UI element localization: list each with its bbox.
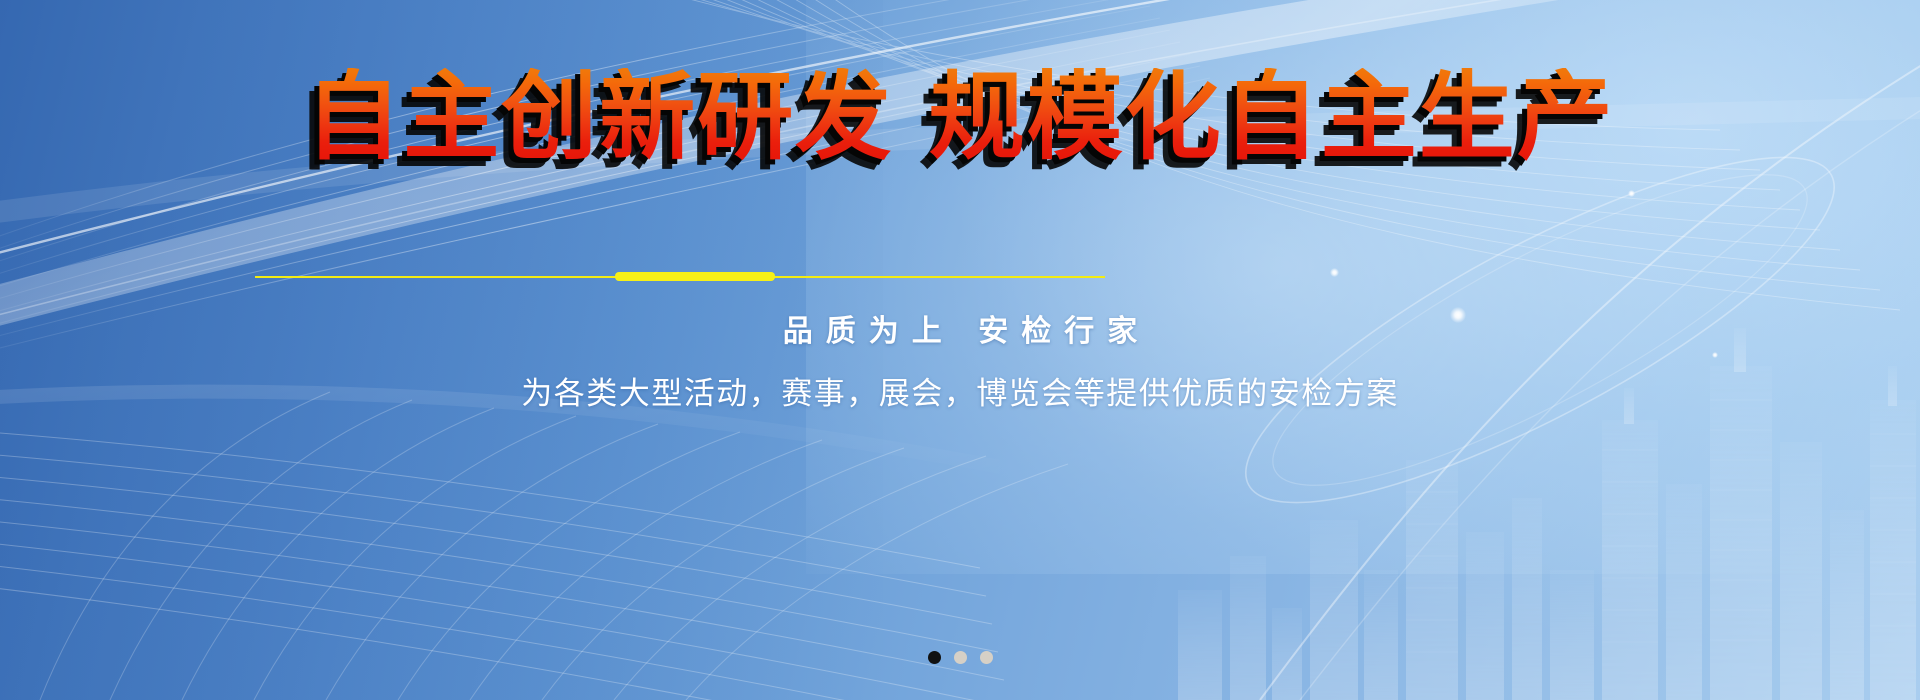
title-divider bbox=[0, 270, 1920, 284]
banner-slogan: 品质为上 安检行家 bbox=[0, 306, 1920, 350]
carousel-dot-2[interactable] bbox=[954, 651, 967, 664]
carousel-dot-1[interactable] bbox=[928, 651, 941, 664]
sparkle-glint-small bbox=[1628, 190, 1635, 197]
carousel-dot-3[interactable] bbox=[980, 651, 993, 664]
banner-title-container: 自主创新研发 规模化自主生产 bbox=[0, 68, 1920, 168]
divider-accent-bar bbox=[615, 272, 775, 281]
hero-banner: 自主创新研发 规模化自主生产 品质为上 安检行家 为各类大型活动，赛事，展会，博… bbox=[0, 0, 1920, 700]
banner-subtitle-container: 品质为上 安检行家 为各类大型活动，赛事，展会，博览会等提供优质的安检方案 bbox=[0, 306, 1920, 413]
banner-main-title: 自主创新研发 规模化自主生产 bbox=[305, 68, 1614, 168]
carousel-dots[interactable] bbox=[0, 651, 1920, 664]
banner-description: 为各类大型活动，赛事，展会，博览会等提供优质的安检方案 bbox=[0, 368, 1920, 413]
